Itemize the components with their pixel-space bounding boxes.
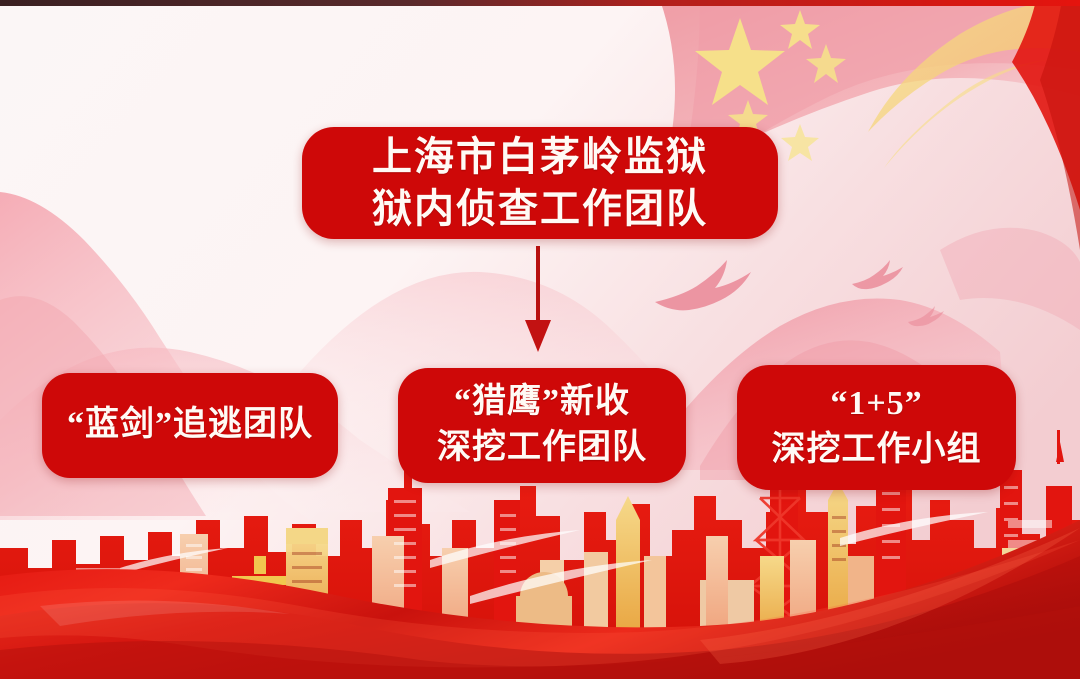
page-title-line-2: 狱内侦查工作团队	[372, 185, 708, 233]
page-title-line-1: 上海市白茅岭监狱	[372, 133, 708, 181]
top-band	[0, 0, 1080, 6]
team-card-label-line-1: “1+5”	[830, 384, 922, 425]
poster-canvas: 上海市白茅岭监狱 狱内侦查工作团队 “蓝剑”追逃团队 “猎鹰”新收 深挖工作团队…	[0, 0, 1080, 679]
team-card-one-plus-five[interactable]: “1+5” 深挖工作小组	[737, 365, 1016, 490]
team-card-blue-sword[interactable]: “蓝剑”追逃团队	[42, 373, 338, 478]
team-card-label-line-1: “猎鹰”新收	[454, 382, 630, 423]
down-arrow-icon	[522, 246, 554, 352]
team-card-label-line-2: 深挖工作小组	[772, 430, 982, 471]
team-card-label: “蓝剑”追逃团队	[67, 405, 313, 446]
team-card-label-line-2: 深挖工作团队	[437, 428, 647, 469]
team-card-hunting-eagle[interactable]: “猎鹰”新收 深挖工作团队	[398, 368, 686, 483]
page-title: 上海市白茅岭监狱 狱内侦查工作团队	[302, 127, 778, 239]
